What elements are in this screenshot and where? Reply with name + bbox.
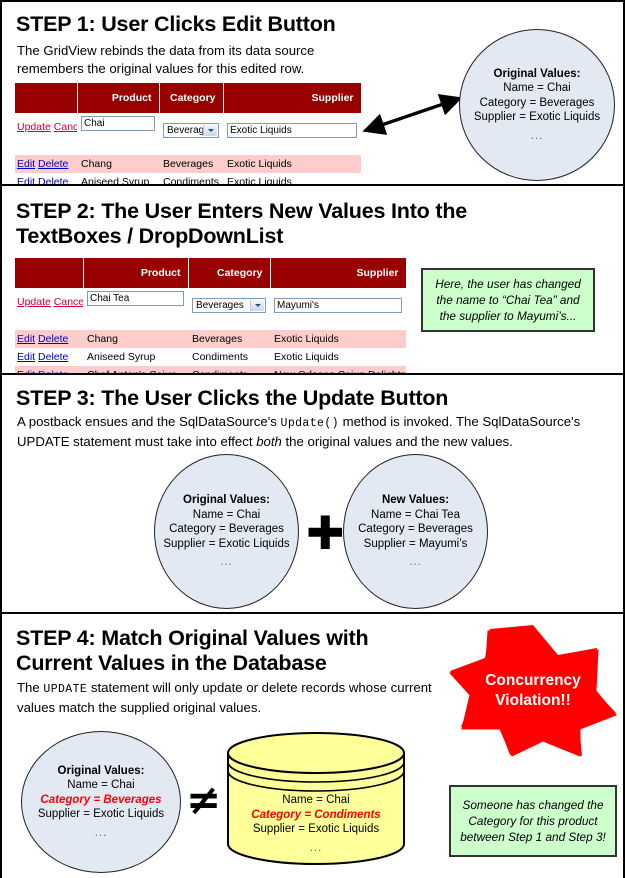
gridview-header-row: Product Category Supplier (15, 83, 361, 114)
category-dropdownlist[interactable]: Beverages (163, 123, 219, 138)
cell-category: Beverages (188, 330, 270, 348)
database-text: Name = Chai Category = Condiments Suppli… (226, 793, 406, 855)
cell-supplier: Exotic Liquids (223, 173, 361, 184)
step-3-section: STEP 3: The User Clicks the Update Butto… (2, 380, 623, 612)
bubble-text: Original Values: Name = Chai Category = … (474, 67, 600, 144)
cell-product: Chang (83, 330, 188, 348)
bubble-line-3: Supplier = Exotic Liquids (474, 111, 600, 123)
db-line-1: Name = Chai (282, 794, 349, 806)
step-2-section: STEP 2: The User Enters New Values Into … (2, 191, 623, 373)
bubble-heading: Original Values: (494, 68, 581, 80)
bubble-line-1: Name = Chai (193, 509, 260, 521)
desc-code-1: UPDATE (43, 683, 87, 696)
section-divider-1 (2, 184, 623, 186)
column-header-supplier: Supplier (270, 258, 406, 289)
edit-row-category-cell: Beverages (188, 289, 270, 331)
edit-link[interactable]: Edit (17, 158, 35, 170)
cell-category: Beverages (159, 155, 223, 173)
cell-supplier: Exotic Liquids (270, 348, 406, 366)
section-divider-3 (2, 612, 623, 614)
cancel-link[interactable]: Cancel (54, 296, 83, 308)
row-commands: Edit Delete (15, 173, 77, 184)
bubble-text: New Values: Name = Chai Tea Category = B… (358, 493, 473, 570)
step-1-title: STEP 1: User Clicks Edit Button (16, 12, 336, 37)
gridview-step-1: Product Category Supplier Update Cancel … (15, 82, 362, 184)
gridview-edit-row: Update Cancel Chai Tea Beverages Mayumi'… (15, 289, 406, 331)
bubble-line-2-highlight: Category = Beverages (40, 794, 161, 806)
plus-operator-icon: ✚ (306, 510, 345, 556)
delete-link[interactable]: Delete (38, 351, 68, 363)
cell-product: Chang (77, 155, 159, 173)
table-row: Edit Delete Aniseed Syrup Condiments Exo… (15, 173, 361, 184)
row-commands: Edit Delete (15, 330, 83, 348)
step-4-section: STEP 4: Match Original Values with Curre… (2, 619, 623, 878)
diagram-page: STEP 1: User Clicks Edit Button The Grid… (0, 0, 625, 878)
step-2-callout: Here, the user has changed the name to “… (421, 268, 595, 332)
delete-link[interactable]: Delete (38, 176, 68, 184)
bubble-line-3: Supplier = Exotic Liquids (38, 808, 164, 820)
cell-category: Condiments (188, 366, 270, 373)
step-1-section: STEP 1: User Clicks Edit Button The Grid… (2, 2, 623, 184)
delete-link[interactable]: Delete (38, 158, 68, 170)
desc-code-1: Update() (281, 417, 339, 430)
table-row: Edit Delete Aniseed Syrup Condiments Exo… (15, 348, 406, 366)
bubble-heading: Original Values: (58, 765, 145, 777)
database-cylinder: Name = Chai Category = Condiments Suppli… (226, 731, 406, 866)
star-label: Concurrency Violation!! (448, 671, 618, 711)
step-4-description: The UPDATE statement will only update or… (17, 679, 449, 716)
original-values-bubble-step1: Original Values: Name = Chai Category = … (459, 29, 615, 181)
bubble-line-3: Supplier = Mayumi’s (364, 538, 468, 550)
bubble-line-1: Name = Chai (67, 779, 134, 791)
cell-product: Aniseed Syrup (77, 173, 159, 184)
gridview-edit-row: Update Cancel Chai Beverages Exotic Liqu… (15, 114, 361, 156)
column-header-product: Product (77, 83, 159, 114)
desc-text-3: the original values and the new values. (282, 434, 513, 449)
column-header-supplier: Supplier (223, 83, 361, 114)
row-commands: Edit Delete (15, 348, 83, 366)
bubble-text: Original Values: Name = Chai Category = … (38, 764, 164, 841)
edit-row-supplier-cell: Mayumi's (270, 289, 406, 331)
desc-text-1: A postback ensues and the SqlDataSource'… (17, 414, 281, 429)
bubble-ellipsis: ... (358, 555, 473, 570)
bubble-ellipsis: ... (38, 826, 164, 841)
cancel-link[interactable]: Cancel (54, 121, 77, 133)
step-3-title: STEP 3: The User Clicks the Update Butto… (16, 386, 448, 411)
delete-link[interactable]: Delete (38, 333, 68, 345)
bubble-ellipsis: ... (163, 555, 289, 570)
concurrency-violation-star: Concurrency Violation!! (448, 625, 618, 758)
chevron-down-icon[interactable] (203, 125, 217, 136)
step-4-title: STEP 4: Match Original Values with Curre… (16, 626, 368, 676)
cell-supplier: Exotic Liquids (270, 330, 406, 348)
db-line-3: Supplier = Exotic Liquids (253, 823, 379, 835)
original-values-bubble-step3: Original Values: Name = Chai Category = … (154, 454, 299, 609)
db-ellipsis: ... (226, 841, 406, 856)
product-textbox[interactable]: Chai Tea (87, 291, 184, 306)
step-3-description: A postback ensues and the SqlDataSource'… (17, 413, 612, 450)
bidirectional-arrow-icon (354, 90, 472, 140)
db-line-2-highlight: Category = Condiments (251, 809, 380, 821)
cell-category: Condiments (159, 173, 223, 184)
bubble-line-2: Category = Beverages (480, 97, 595, 109)
bubble-ellipsis: ... (474, 129, 600, 144)
update-link[interactable]: Update (17, 121, 51, 133)
bubble-line-1: Name = Chai (503, 82, 570, 94)
column-header-commands (15, 258, 83, 289)
column-header-category: Category (159, 83, 223, 114)
step-2-title: STEP 2: The User Enters New Values Into … (16, 199, 467, 249)
row-commands: Edit Delete (15, 366, 83, 373)
bubble-line-2: Category = Beverages (169, 523, 284, 535)
table-row: Edit Delete Chang Beverages Exotic Liqui… (15, 155, 361, 173)
supplier-textbox[interactable]: Exotic Liquids (227, 123, 357, 138)
original-values-bubble-step4: Original Values: Name = Chai Category = … (21, 731, 181, 873)
cell-product: Chef Anton's Cajun (83, 366, 188, 373)
edit-link[interactable]: Edit (17, 351, 35, 363)
gridview-step-2: Product Category Supplier Update Cancel … (15, 257, 407, 373)
bubble-line-2: Category = Beverages (358, 523, 473, 535)
bubble-heading: New Values: (382, 494, 449, 506)
supplier-textbox[interactable]: Mayumi's (274, 298, 402, 313)
edit-link[interactable]: Edit (17, 333, 35, 345)
new-values-bubble-step3: New Values: Name = Chai Tea Category = B… (343, 454, 488, 609)
cell-category: Condiments (188, 348, 270, 366)
section-divider-2 (2, 373, 623, 375)
edit-row-category-cell: Beverages (159, 114, 223, 156)
not-equal-operator-icon: ≠ (186, 779, 221, 821)
category-dropdownlist-value: Beverages (196, 300, 244, 311)
product-textbox[interactable]: Chai (81, 116, 155, 131)
edit-row-commands: Update Cancel (15, 289, 83, 331)
table-row: Edit Delete Chang Beverages Exotic Liqui… (15, 330, 406, 348)
column-header-product: Product (83, 258, 188, 289)
gridview-header-row: Product Category Supplier (15, 258, 406, 289)
cell-product: Aniseed Syrup (83, 348, 188, 366)
table-row: Edit Delete Chef Anton's Cajun Condiment… (15, 366, 406, 373)
cell-supplier: New Orleans Cajun Delights (270, 366, 406, 373)
cell-supplier: Exotic Liquids (223, 155, 361, 173)
update-link[interactable]: Update (17, 296, 51, 308)
bubble-heading: Original Values: (183, 494, 270, 506)
desc-emphasis: both (256, 434, 282, 449)
edit-row-commands: Update Cancel (15, 114, 77, 156)
bubble-line-3: Supplier = Exotic Liquids (163, 538, 289, 550)
column-header-category: Category (188, 258, 270, 289)
step-4-callout: Someone has changed the Category for thi… (449, 785, 617, 857)
bubble-line-1: Name = Chai Tea (371, 509, 460, 521)
column-header-commands (15, 83, 77, 114)
bubble-text: Original Values: Name = Chai Category = … (163, 493, 289, 570)
edit-row-product-cell: Chai Tea (83, 289, 188, 331)
edit-row-supplier-cell: Exotic Liquids (223, 114, 361, 156)
category-dropdownlist[interactable]: Beverages (192, 298, 266, 313)
edit-link[interactable]: Edit (17, 176, 35, 184)
edit-row-product-cell: Chai (77, 114, 159, 156)
desc-text-1: The (17, 680, 43, 695)
row-commands: Edit Delete (15, 155, 77, 173)
step-1-description: The GridView rebinds the data from its d… (17, 42, 352, 77)
chevron-down-icon[interactable] (250, 300, 264, 311)
